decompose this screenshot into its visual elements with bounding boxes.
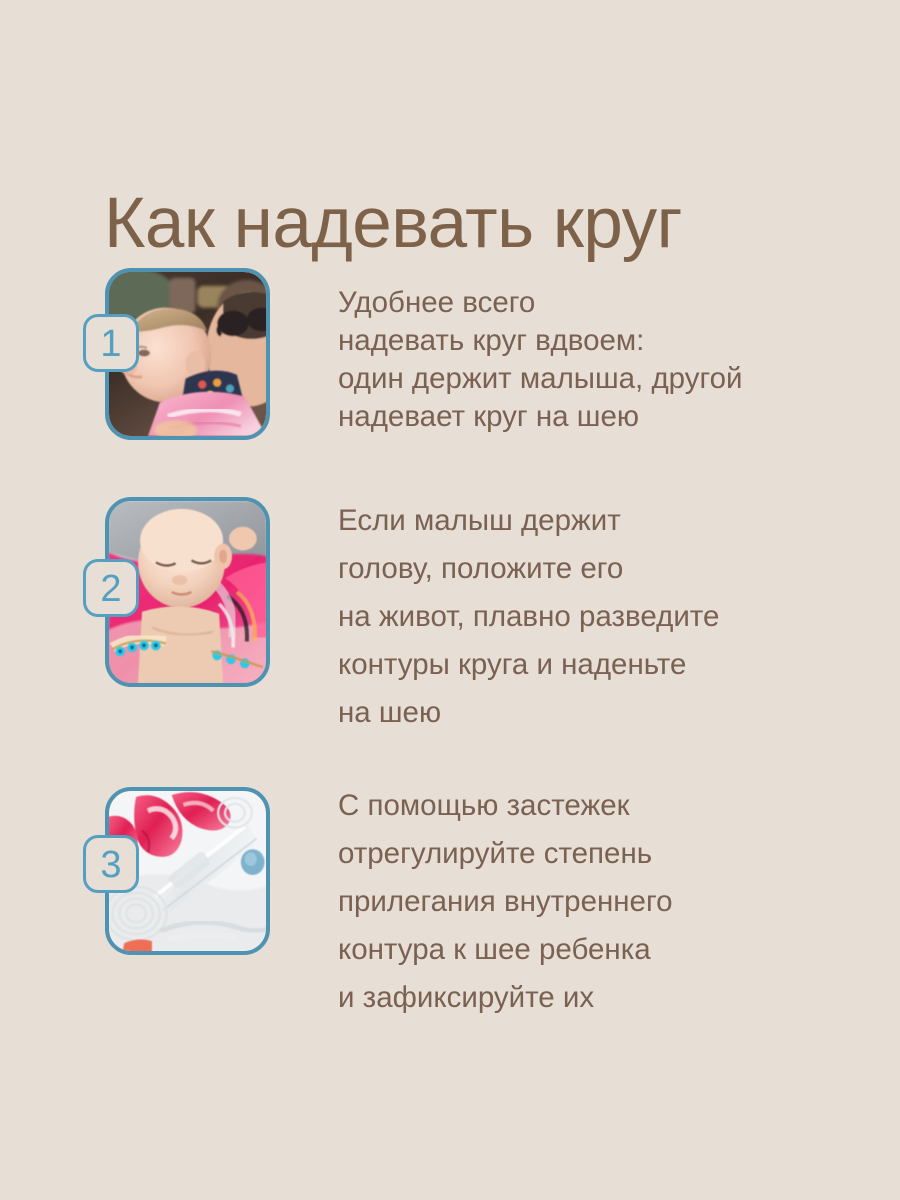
step-3-thumbnail: 3 — [105, 787, 270, 955]
step-2-thumbnail: 2 — [105, 497, 270, 687]
step-text-line: на шею — [338, 689, 719, 737]
step-text-line: контуры круга и наденьте — [338, 641, 719, 689]
step-text-line: на живот, плавно разведите — [338, 593, 719, 641]
step-text-line: контура к шее ребенка — [338, 926, 672, 974]
step-text-line: и зафиксируйте их — [338, 974, 672, 1022]
step-3-text: С помощью застежек отрегулируйте степень… — [338, 782, 672, 1022]
step-text-line: С помощью застежек — [338, 782, 672, 830]
page-title: Как надевать круг — [104, 184, 682, 264]
step-text-line: прилегания внутреннего — [338, 878, 672, 926]
step-text-line: Удобнее всего — [338, 284, 743, 322]
step-text-line: надевать круг вдвоем: — [338, 322, 743, 360]
step-2-text: Если малыш держит голову, положите его н… — [338, 497, 719, 737]
step-text-line: надевает круг на шею — [338, 398, 743, 436]
step-number-badge: 2 — [83, 559, 139, 617]
step-text-line: Если малыш держит — [338, 497, 719, 545]
step-1-text: Удобнее всего надевать круг вдвоем: один… — [338, 284, 743, 436]
step-text-line: отрегулируйте степень — [338, 830, 672, 878]
step-number-badge: 1 — [83, 314, 139, 372]
infographic-page: Как надевать круг — [0, 0, 900, 1200]
step-1-thumbnail: 1 — [105, 268, 270, 440]
step-number-badge: 3 — [83, 835, 139, 893]
step-text-line: один держит малыша, другой — [338, 360, 743, 398]
step-text-line: голову, положите его — [338, 545, 719, 593]
